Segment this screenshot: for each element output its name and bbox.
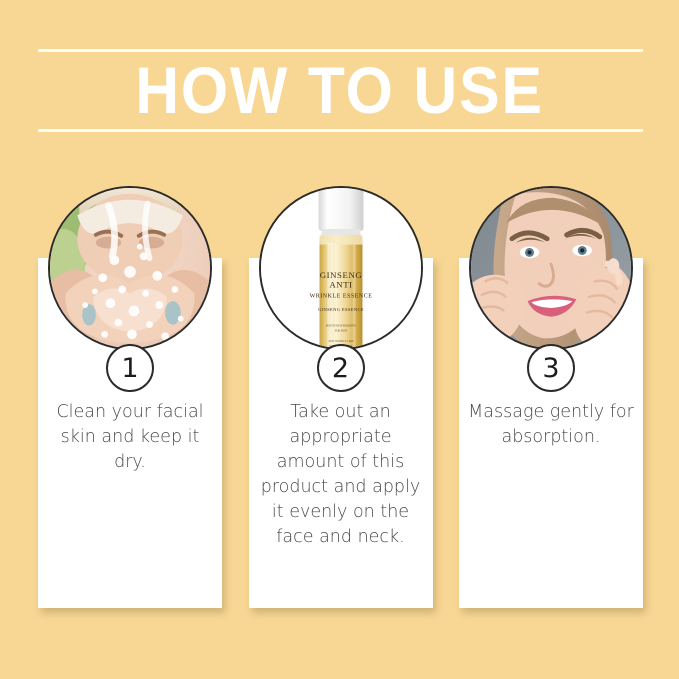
header: HOW TO USE <box>0 0 679 160</box>
woman-massaging-face-photo <box>469 186 633 350</box>
step-description: Take out an appropriate amount of this p… <box>257 400 425 550</box>
step-number-badge: 2 <box>317 344 365 392</box>
step-description: Massage gently for absorption. <box>467 400 635 450</box>
svg-text:GINSENG: GINSENG <box>319 270 362 280</box>
svg-text:FOR SKIN: FOR SKIN <box>334 329 346 332</box>
woman-washing-face-photo <box>48 186 212 350</box>
page-title: HOW TO USE <box>27 52 652 128</box>
svg-text:WRINKLE ESSENCE: WRINKLE ESSENCE <box>309 293 372 299</box>
title-rule-bottom <box>38 129 643 132</box>
svg-text:ANTI WRINKLE CARE: ANTI WRINKLE CARE <box>328 340 354 343</box>
step-card-2: GINSENG ANTI WRINKLE ESSENCE GINSENG ESS… <box>249 258 433 608</box>
step-description: Clean your facial skin and keep it dry. <box>46 400 214 475</box>
step-number-badge: 3 <box>527 344 575 392</box>
steps-row: 1 Clean your facial skin and keep it dry… <box>38 258 643 610</box>
ginseng-essence-bottle-photo: GINSENG ANTI WRINKLE ESSENCE GINSENG ESS… <box>259 186 423 350</box>
svg-text:MOISTURE HYDRATING: MOISTURE HYDRATING <box>325 325 355 328</box>
step-card-3: 3 Massage gently for absorption. <box>459 258 643 608</box>
svg-text:GINSENG ESSENCE: GINSENG ESSENCE <box>318 307 364 312</box>
step-card-1: 1 Clean your facial skin and keep it dry… <box>38 258 222 608</box>
svg-text:ANTI: ANTI <box>329 280 352 290</box>
step-number-badge: 1 <box>106 344 154 392</box>
